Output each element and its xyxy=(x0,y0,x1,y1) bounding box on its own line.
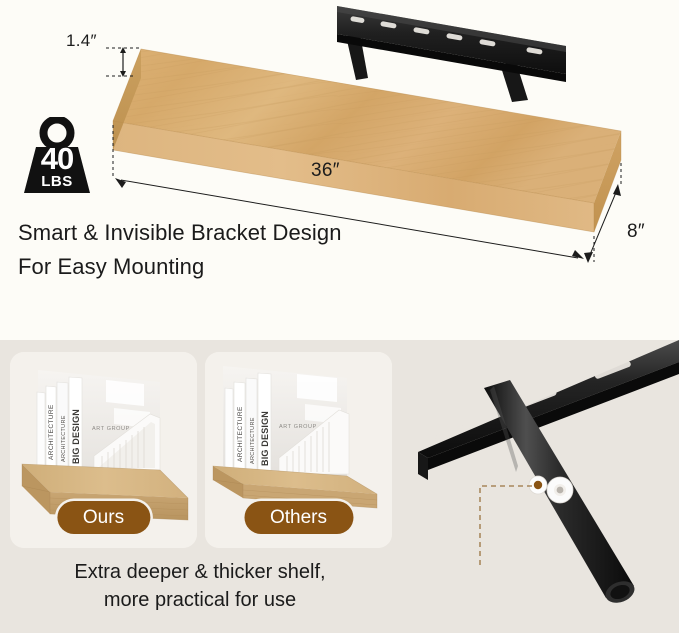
bottom-panel-comparison: ART GROUP ARCHI xyxy=(0,340,679,633)
weight-value: 40 xyxy=(22,143,92,174)
weight-unit: LBS xyxy=(22,174,92,189)
badge-others: Others xyxy=(244,501,353,534)
wall-art-label: ART GROUP xyxy=(92,426,130,432)
wall-art-label: ART GROUP xyxy=(279,424,317,430)
comparison-caption-line-1: Extra deeper & thicker shelf, xyxy=(0,558,400,586)
book-spine-text: ARCHITECTURE xyxy=(237,406,244,462)
bracket-detail-svg xyxy=(398,340,679,633)
comparison-caption-line-2: more practical for use xyxy=(0,586,400,614)
dimension-label-depth: 8″ xyxy=(627,221,645,243)
book-spine-text: ARCHITECTURE xyxy=(250,417,256,464)
wall-bracket-rail xyxy=(337,6,566,102)
dimension-label-thickness: 1.4″ xyxy=(66,31,97,51)
product-infographic: 1.4″ 36″ 8″ 40 LBS Smart & Invisible Bra… xyxy=(0,0,679,633)
weight-capacity-badge: 40 LBS xyxy=(22,117,92,195)
headline-line-1: Smart & Invisible Bracket Design xyxy=(18,216,342,250)
book-spine-text: ARCHITECTURE xyxy=(48,404,55,460)
top-panel-shelf-dimensions: 1.4″ 36″ 8″ 40 LBS Smart & Invisible Bra… xyxy=(0,0,679,340)
headline: Smart & Invisible Bracket Design For Eas… xyxy=(18,216,342,284)
comparison-caption: Extra deeper & thicker shelf, more pract… xyxy=(0,558,400,614)
book-spine-text: ARCHITECTURE xyxy=(61,415,67,462)
comparison-card-others: ART GROUP ARCHITECTURE ARCHITECTUR xyxy=(205,352,392,548)
badge-ours: Ours xyxy=(57,501,150,534)
comparison-card-ours: ART GROUP ARCHI xyxy=(10,352,197,548)
bracket-detail-illustration xyxy=(398,340,679,633)
book-spine-text: BIG DESIGN xyxy=(260,411,270,466)
book-spine-text: BIG DESIGN xyxy=(71,409,81,464)
dimension-label-length: 36″ xyxy=(311,160,340,182)
headline-line-2: For Easy Mounting xyxy=(18,250,342,284)
